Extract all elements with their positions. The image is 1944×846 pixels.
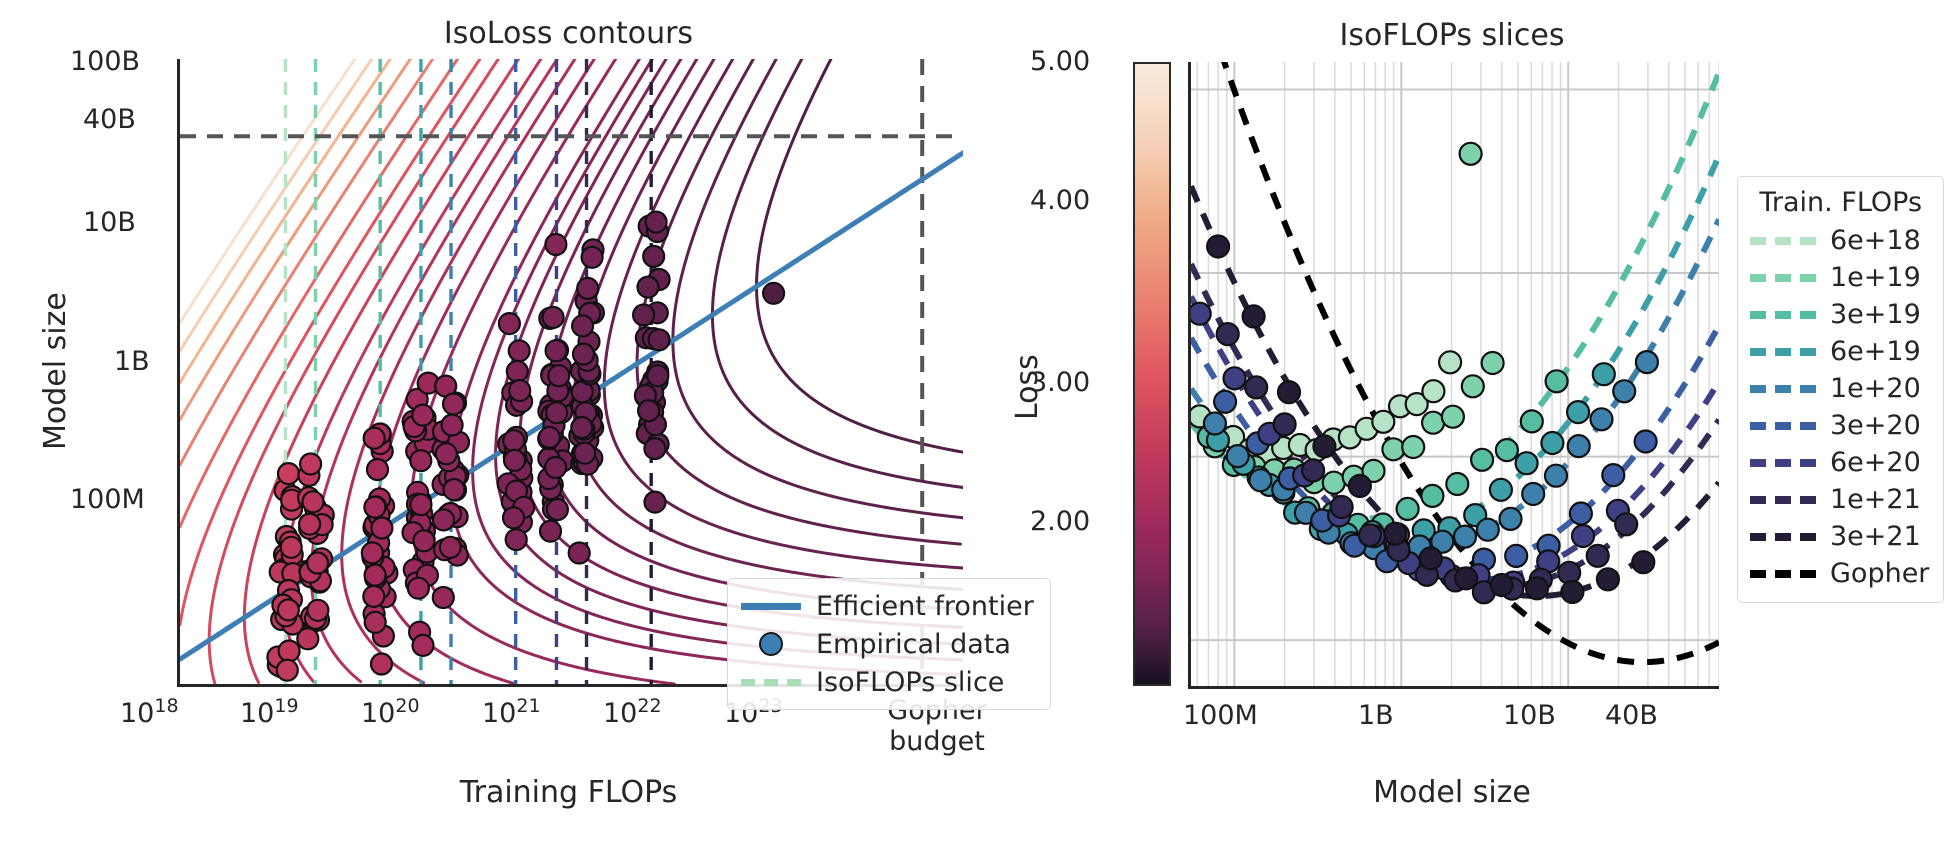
empirical-data-point xyxy=(539,427,560,448)
empirical-data-point xyxy=(503,430,524,451)
left-ytick-1B: 1B xyxy=(114,346,150,377)
left-ylabel: Model size xyxy=(38,292,73,450)
empirical-data-point xyxy=(506,529,527,550)
isoflops-data-point xyxy=(1591,408,1613,430)
empirical-data-point xyxy=(763,283,784,304)
dashed-line-icon xyxy=(1748,311,1818,319)
isoflops-data-point xyxy=(1384,523,1406,545)
empirical-data-point xyxy=(573,344,594,365)
left-xtick-1e19: 1019 xyxy=(240,695,299,729)
legend-item-1e-20[interactable]: 1e+20 xyxy=(1748,370,1929,407)
empirical-data-point xyxy=(547,499,568,520)
left-panel-title: IsoLoss contours xyxy=(177,16,960,51)
empirical-data-point xyxy=(443,394,464,415)
colorbar-label: Loss xyxy=(1010,354,1045,420)
empirical-data-point xyxy=(638,277,659,298)
dashed-line-icon xyxy=(1748,496,1818,504)
loss-colorbar xyxy=(1133,62,1171,686)
isoflops-data-point xyxy=(1522,483,1544,505)
legend-item-6e-19[interactable]: 6e+19 xyxy=(1748,333,1929,370)
empirical-data-point xyxy=(363,586,384,607)
legend-item-isoflops-slice[interactable]: IsoFLOPs slice xyxy=(740,663,1034,701)
dashed-line-icon xyxy=(1748,570,1818,578)
isoflops-data-point xyxy=(1567,401,1589,423)
empirical-data-point xyxy=(504,450,525,471)
empirical-data-point xyxy=(509,340,530,361)
isoflops-data-point xyxy=(1191,303,1211,325)
empirical-data-point xyxy=(574,443,595,464)
legend-item-1e-19[interactable]: 1e+19 xyxy=(1748,259,1929,296)
legend-item-empirical-data[interactable]: Empirical data xyxy=(740,625,1034,663)
isoflops-data-point xyxy=(1422,412,1444,434)
legend-label-1e-20: 1e+20 xyxy=(1830,373,1921,404)
empirical-data-point xyxy=(362,542,383,563)
empirical-data-point xyxy=(644,438,665,459)
isoflops-data-point xyxy=(1615,513,1637,535)
isoflops-data-point xyxy=(1500,508,1522,530)
empirical-data-point xyxy=(543,307,564,328)
isoflops-data-point xyxy=(1224,367,1246,389)
empirical-data-points xyxy=(267,212,784,681)
isoflops-data-point xyxy=(1602,464,1624,486)
empirical-data-point xyxy=(300,454,321,475)
empirical-data-point xyxy=(444,479,465,500)
isoflops-data-point xyxy=(1632,551,1654,573)
isoflops-data-point xyxy=(1422,380,1444,402)
empirical-data-point xyxy=(365,612,386,633)
dashed-line-icon xyxy=(1748,459,1818,467)
legend-item-6e-18[interactable]: 6e+18 xyxy=(1748,222,1929,259)
left-xtick-1e20: 1020 xyxy=(361,695,420,729)
empirical-data-point xyxy=(643,246,664,267)
isoflops-data-point xyxy=(1572,525,1594,547)
isoflops-data-point xyxy=(1402,436,1424,458)
dashed-line-icon xyxy=(1748,422,1818,430)
empirical-data-point xyxy=(281,537,302,558)
legend-label-6e-19: 6e+19 xyxy=(1830,336,1921,367)
isoflops-data-point xyxy=(1568,435,1590,457)
empirical-data-point xyxy=(546,402,567,423)
left-ytick-10B: 10B xyxy=(83,207,136,238)
dashed-line-icon xyxy=(1748,274,1818,282)
empirical-data-point xyxy=(367,459,388,480)
isoflops-data-point xyxy=(1420,547,1442,569)
empirical-data-point xyxy=(364,428,385,449)
empirical-data-point xyxy=(569,543,590,564)
legend-label-1e-19: 1e+19 xyxy=(1830,262,1921,293)
dashed-line-icon xyxy=(1748,385,1818,393)
left-xtick-1e21: 1021 xyxy=(482,695,541,729)
right-xtick-40B: 40B xyxy=(1605,700,1658,731)
empirical-data-point xyxy=(577,278,598,299)
isoflops-data-point xyxy=(1421,485,1443,507)
isoflops-data-point xyxy=(1439,351,1461,373)
isoflops-data-point xyxy=(1313,435,1335,457)
isoflops-data-point xyxy=(1204,413,1226,435)
legend-title-train-flops: Train. FLOPs xyxy=(1752,187,1929,218)
isoflops-data-point xyxy=(1274,413,1296,435)
isoflops-data-point xyxy=(1482,352,1504,374)
legend-label-3e-19: 3e+19 xyxy=(1830,299,1921,330)
legend-item-3e-19[interactable]: 3e+19 xyxy=(1748,296,1929,333)
right-xtick-1B: 1B xyxy=(1358,700,1394,731)
empirical-data-point xyxy=(499,313,520,334)
isoflops-data-point xyxy=(1490,479,1512,501)
isoflops-data-point xyxy=(1349,475,1371,497)
empirical-data-point xyxy=(412,405,433,426)
isoflops-data-point xyxy=(1570,503,1592,525)
isoflops-data-point xyxy=(1382,438,1404,460)
isoflops-data-point xyxy=(1496,439,1518,461)
empirical-data-point xyxy=(433,509,454,530)
isoflops-curve-1e+20 xyxy=(1191,219,1719,550)
left-ytick-100B: 100B xyxy=(70,46,140,77)
empirical-data-point xyxy=(307,600,328,621)
empirical-data-point xyxy=(582,247,603,268)
empirical-data-point xyxy=(278,463,299,484)
empirical-data-point xyxy=(572,315,593,336)
empirical-data-point xyxy=(277,660,298,681)
isoflops-data-point xyxy=(1477,519,1499,541)
isoflops-data-point xyxy=(1249,469,1271,491)
isoflops-data-point xyxy=(1505,545,1527,567)
dashed-line-icon xyxy=(740,679,802,686)
right-xtick-100M: 100M xyxy=(1183,700,1258,731)
isoflops-data-point xyxy=(1331,496,1353,518)
empirical-data-point xyxy=(278,599,299,620)
isoflops-data-point xyxy=(1491,574,1513,596)
contour-path xyxy=(712,59,955,486)
empirical-data-point xyxy=(410,450,431,471)
left-xlabel: Training FLOPs xyxy=(177,775,960,810)
left-xtick-1e22: 1022 xyxy=(603,695,662,729)
scaling-law-figure: IsoLoss contours 100B 40B 10B 1B 100M Mo… xyxy=(0,0,1944,846)
empirical-data-point xyxy=(436,443,457,464)
legend-label-6e-18: 6e+18 xyxy=(1830,225,1921,256)
empirical-data-point xyxy=(645,492,666,513)
empirical-data-point xyxy=(297,628,318,649)
isoflops-slices-svg xyxy=(1191,62,1719,686)
isoflops-data-point xyxy=(1446,473,1468,495)
isoflops-data-points xyxy=(1191,143,1658,604)
empirical-data-point xyxy=(410,494,431,515)
isoflops-data-point xyxy=(1227,445,1249,467)
empirical-data-point xyxy=(545,457,566,478)
isoflops-data-point-outlier xyxy=(1460,143,1482,165)
empirical-data-point xyxy=(433,587,454,608)
circle-marker-icon xyxy=(740,632,802,656)
isoflops-data-point xyxy=(1541,432,1563,454)
isoflops-data-point xyxy=(1217,323,1239,345)
isoflops-data-point xyxy=(1593,363,1615,385)
isoflops-data-point xyxy=(1214,391,1236,413)
empirical-data-point xyxy=(546,340,567,361)
solid-line-icon xyxy=(740,603,802,610)
contour-path xyxy=(934,566,963,568)
legend-label-6e-20: 6e+20 xyxy=(1830,447,1921,478)
empirical-data-point xyxy=(507,361,528,382)
contour-path xyxy=(574,59,932,587)
isoflops-data-point xyxy=(1521,410,1543,432)
isoflops-data-point xyxy=(1471,449,1493,471)
isoflops-data-point xyxy=(1587,545,1609,567)
legend-label-isoflops-slice: IsoFLOPs slice xyxy=(816,667,1004,698)
legend-label-3e-20: 3e+20 xyxy=(1830,410,1921,441)
isoflops-data-point xyxy=(1278,381,1300,403)
empirical-data-point xyxy=(649,329,670,350)
isoflops-data-point xyxy=(1546,370,1568,392)
empirical-data-point xyxy=(365,565,386,586)
isoflops-data-point xyxy=(1561,581,1583,603)
contour-path xyxy=(637,59,960,544)
isoflops-data-point xyxy=(1245,376,1267,398)
isoflops-data-point xyxy=(1302,459,1324,481)
isoflops-data-point xyxy=(1207,236,1229,258)
legend-rows: 6e+181e+193e+196e+191e+203e+206e+201e+21… xyxy=(1748,222,1929,592)
legend-item-6e-20[interactable]: 6e+20 xyxy=(1748,444,1929,481)
legend-label-efficient-frontier: Efficient frontier xyxy=(816,591,1034,622)
isoflops-data-point xyxy=(1613,380,1635,402)
contour-path xyxy=(657,682,675,684)
isoflops-slices-plot xyxy=(1188,62,1719,689)
isoflops-data-point xyxy=(1397,498,1419,520)
isoflops-data-point xyxy=(1545,465,1567,487)
empirical-data-point xyxy=(571,417,592,438)
right-xtick-10B: 10B xyxy=(1503,700,1556,731)
isoflops-data-point xyxy=(1635,431,1657,453)
right-xlabel: Model size xyxy=(1188,775,1716,810)
isoflops-data-point xyxy=(1636,351,1658,373)
isoflops-data-point xyxy=(1243,305,1265,327)
empirical-data-point xyxy=(303,491,324,512)
legend-item-efficient-frontier[interactable]: Efficient frontier xyxy=(740,587,1034,625)
legend-item-gopher[interactable]: Gopher xyxy=(1748,555,1929,592)
right-panel-legend: Train. FLOPs 6e+181e+193e+196e+191e+203e… xyxy=(1737,176,1944,603)
empirical-data-point xyxy=(299,514,320,535)
dashed-line-icon xyxy=(1748,533,1818,541)
empirical-data-point xyxy=(503,507,524,528)
contour-path xyxy=(180,59,355,323)
colorbar-tick-5: 5.00 xyxy=(1030,46,1090,77)
empirical-data-point xyxy=(364,497,385,518)
empirical-data-point xyxy=(638,400,659,421)
left-panel-legend: Efficient frontier Empirical data IsoFLO… xyxy=(727,578,1051,710)
isoflops-data-point xyxy=(1323,472,1345,494)
empirical-data-point xyxy=(646,212,667,233)
colorbar-gradient xyxy=(1135,64,1169,684)
empirical-data-point xyxy=(371,654,392,675)
left-xtick-1e18: 1018 xyxy=(120,695,179,729)
contour-path xyxy=(955,486,963,487)
isoflops-data-point xyxy=(1454,526,1476,548)
contour-path xyxy=(953,450,963,452)
empirical-data-point xyxy=(647,365,668,386)
isoflops-data-point xyxy=(1442,406,1464,428)
isoflops-data-point xyxy=(1516,452,1538,474)
legend-item-3e-20[interactable]: 3e+20 xyxy=(1748,407,1929,444)
empirical-data-point xyxy=(540,521,561,542)
legend-item-1e-21[interactable]: 1e+21 xyxy=(1748,481,1929,518)
right-panel-title: IsoFLOPs slices xyxy=(1188,18,1716,53)
legend-label-1e-21: 1e+21 xyxy=(1830,484,1921,515)
empirical-data-point xyxy=(509,380,530,401)
dashed-line-icon xyxy=(1748,348,1818,356)
empirical-data-point xyxy=(307,553,328,574)
legend-label-empirical-data: Empirical data xyxy=(816,629,1011,660)
isoflops-data-point xyxy=(1526,577,1548,599)
colorbar-tick-2: 2.00 xyxy=(1030,506,1090,537)
empirical-data-point xyxy=(442,415,463,436)
isoflops-data-point xyxy=(1597,568,1619,590)
legend-label-gopher: Gopher xyxy=(1830,558,1929,589)
empirical-data-point xyxy=(440,537,461,558)
empirical-data-point xyxy=(413,530,434,551)
isoflops-data-point xyxy=(1462,375,1484,397)
left-ytick-40B: 40B xyxy=(83,104,136,135)
empirical-data-point xyxy=(413,635,434,656)
gopher-budget-line2: budget xyxy=(862,726,1012,757)
empirical-data-point xyxy=(545,234,566,255)
left-ytick-100M: 100M xyxy=(70,484,145,515)
empirical-data-point xyxy=(371,518,392,539)
isoflops-data-point xyxy=(1455,567,1477,589)
empirical-data-point xyxy=(548,365,569,386)
empirical-data-point xyxy=(408,578,429,599)
empirical-data-point xyxy=(633,305,654,326)
colorbar-tick-4: 4.00 xyxy=(1030,185,1090,216)
isoflops-data-point xyxy=(1359,524,1381,546)
legend-item-3e-21[interactable]: 3e+21 xyxy=(1748,518,1929,555)
legend-label-3e-21: 3e+21 xyxy=(1830,521,1921,552)
dashed-line-icon xyxy=(1748,237,1818,245)
empirical-data-point xyxy=(279,641,300,662)
